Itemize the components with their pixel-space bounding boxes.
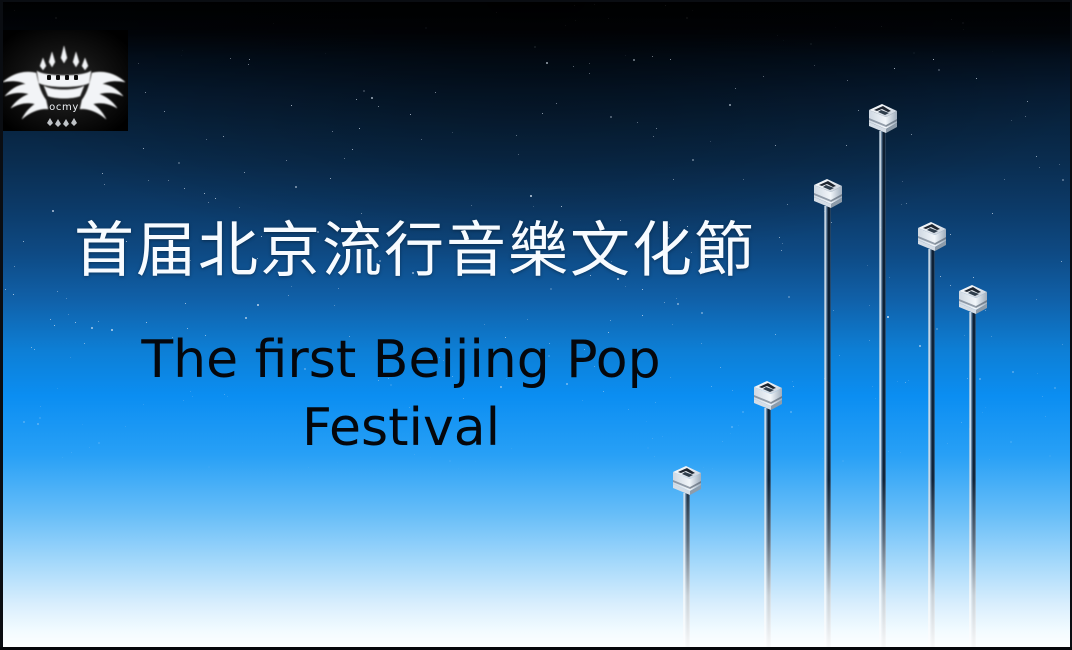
subtitle-line-2: Festival	[78, 394, 724, 462]
page-subtitle-english: The first Beijing Pop Festival	[78, 326, 724, 462]
pole-horizon-fade	[928, 480, 935, 650]
page-title-chinese: 首届北京流行音樂文化節	[74, 216, 756, 286]
lamp-pole	[879, 131, 886, 650]
logo-wordmark: ocmy	[49, 102, 79, 113]
lamp-pole	[928, 249, 935, 650]
pole-horizon-fade	[683, 480, 690, 650]
lamp-head-icon	[949, 284, 995, 323]
pole-horizon-fade	[824, 480, 831, 650]
lamp-pole	[969, 312, 976, 650]
lamp-pole	[824, 206, 831, 650]
presentation-slide: ocmy 首届北京流行音樂文化節 The first Beijing Pop F…	[0, 0, 1072, 650]
lamp-head-icon	[859, 103, 905, 142]
lamp-head-icon	[663, 465, 709, 504]
pole-horizon-fade	[969, 480, 976, 650]
winged-crown-emblem: ocmy	[0, 30, 128, 131]
subtitle-line-1: The first Beijing Pop	[78, 326, 724, 394]
lamp-pole	[683, 493, 690, 650]
lamp-pole	[764, 408, 771, 650]
lamp-head-icon	[908, 221, 954, 260]
sky-gradient-background	[0, 0, 1072, 650]
pole-horizon-fade	[879, 480, 886, 650]
winged-crown-icon: ocmy	[0, 30, 128, 131]
slide-border-top	[0, 0, 1072, 2]
pole-horizon-fade	[764, 480, 771, 650]
slide-border-left	[0, 0, 3, 650]
lamp-head-icon	[744, 380, 790, 419]
lamp-head-icon	[804, 178, 850, 217]
